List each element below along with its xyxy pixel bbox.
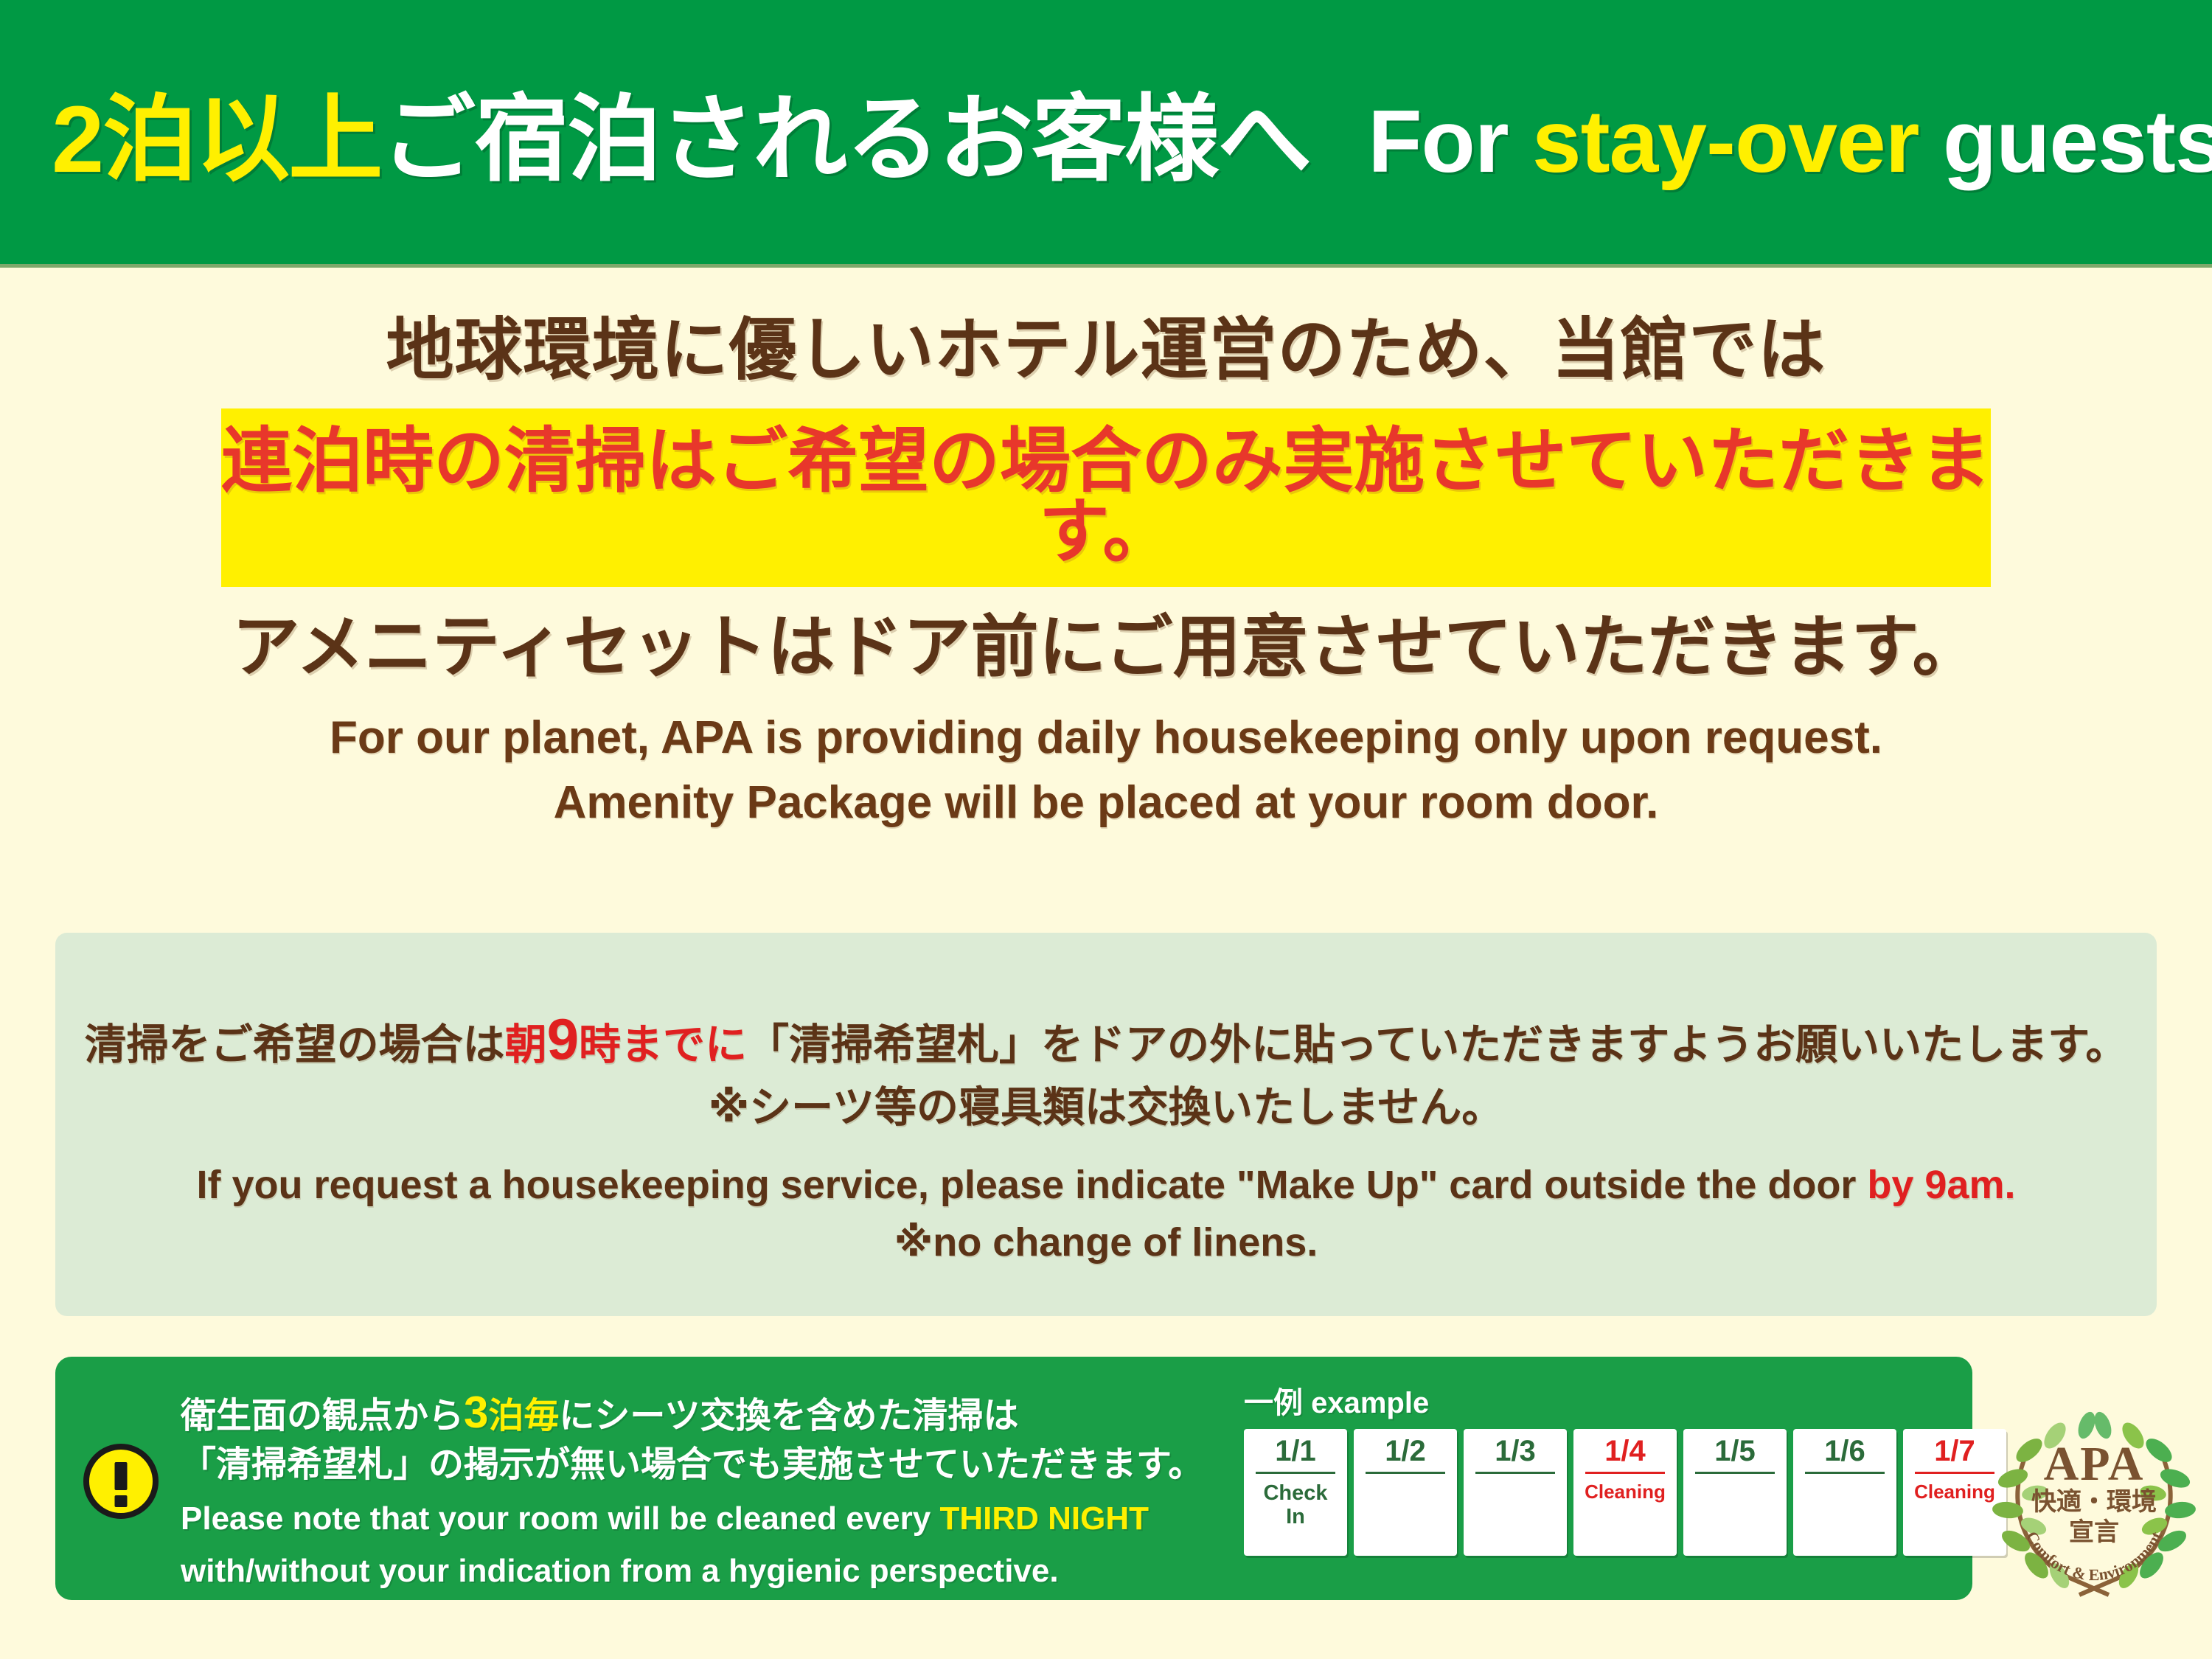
info-en-1-red-deadline: by 9am. <box>1867 1163 2015 1207</box>
main-jp-line-2: アメニティセットはドア前にご用意させていただきます。 <box>0 611 2212 685</box>
example-day-divider <box>1366 1472 1445 1474</box>
notice-jp-1-part-a: 衛生面の観点から <box>181 1397 464 1436</box>
example-day-divider <box>1915 1472 1994 1474</box>
example-day-divider <box>1805 1472 1885 1474</box>
apa-logo-svg: APA 快適・環境 宣言 Comfort & Environment <box>1983 1390 2205 1611</box>
info-jp-1-red-a: 朝 <box>505 1021 547 1068</box>
header-title-jp-rest: ご宿泊されるお客様へ <box>381 87 1310 192</box>
example-day-cell: 1/6 <box>1793 1429 1896 1556</box>
main-english-block: For our planet, APA is providing daily h… <box>0 706 2212 835</box>
info-jp-1-red-b: 時までに <box>579 1021 747 1068</box>
warning-exclamation-icon <box>83 1444 159 1519</box>
header-title-en-highlight: stay-over <box>1532 92 1919 191</box>
highlighted-policy-banner: 連泊時の清掃はご希望の場合のみ実施させていただきます。 <box>221 408 1991 587</box>
header-title-group: 2泊以上ご宿泊されるお客様へ For stay-over guests <box>0 93 2212 187</box>
example-day-note: Cleaning <box>1585 1481 1666 1503</box>
main-en-line-1: For our planet, APA is providing daily h… <box>0 706 2212 771</box>
example-day-date: 1/3 <box>1495 1435 1536 1467</box>
header-title-english: For stay-over guests <box>1368 97 2212 186</box>
example-day-date: 1/1 <box>1275 1435 1316 1467</box>
header-title-jp-highlight: 2泊以上 <box>52 87 381 192</box>
cleaning-schedule-example: 一例 example 1/1CheckIn1/21/31/4Cleaning1/… <box>1244 1379 2006 1556</box>
main-jp-line-1: 地球環境に優しいホテル運営のため、当館では <box>0 313 2212 388</box>
notice-jp-1-hl-number: 3 <box>464 1388 488 1437</box>
notice-jp-1-highlight: 3泊毎 <box>464 1397 559 1436</box>
header-title-japanese: 2泊以上ご宿泊されるお客様へ <box>52 93 1310 187</box>
example-day-date: 1/5 <box>1714 1435 1756 1467</box>
example-label: 一例 example <box>1244 1379 2006 1422</box>
header-title-en-prefix: For <box>1368 92 1532 191</box>
info-jp-1-red-time: 朝9時までに <box>505 1021 747 1068</box>
housekeeping-request-info-box: 清掃をご希望の場合は朝9時までに「清掃希望札」をドアの外に貼っていただきますよう… <box>55 933 2157 1316</box>
info-jp-1-part-a: 清掃をご希望の場合は <box>85 1021 505 1068</box>
example-day-date: 1/7 <box>1934 1435 1975 1467</box>
third-night-cleaning-notice: 衛生面の観点から3泊毎にシーツ交換を含めた清掃は 「清掃希望札」の掲示が無い場合… <box>55 1357 1972 1600</box>
example-day-cell: 1/3 <box>1464 1429 1567 1556</box>
notice-jp-line-1: 衛生面の観点から3泊毎にシーツ交換を含めた清掃は <box>181 1383 1228 1441</box>
main-message-block: 地球環境に優しいホテル運営のため、当館では 連泊時の清掃はご希望の場合のみ実施さ… <box>0 268 2212 835</box>
info-jp-1-red-hour: 9 <box>547 1006 579 1071</box>
example-day-divider <box>1695 1472 1775 1474</box>
example-day-date: 1/2 <box>1385 1435 1426 1467</box>
info-en-1-part-a: If you request a housekeeping service, p… <box>197 1163 1868 1207</box>
info-en-line-2: ※no change of linens. <box>55 1217 2157 1268</box>
highlighted-policy-text: 連泊時の清掃はご希望の場合のみ実施させていただきます。 <box>221 426 1991 568</box>
notice-text-block: 衛生面の観点から3泊毎にシーツ交換を含めた清掃は 「清掃希望札」の掲示が無い場合… <box>181 1383 1228 1593</box>
notice-en-1-part-a: Please note that your room will be clean… <box>181 1500 939 1537</box>
example-day-cell: 1/4Cleaning <box>1573 1429 1677 1556</box>
example-day-cell: 1/2 <box>1354 1429 1457 1556</box>
info-jp-line-1: 清掃をご希望の場合は朝9時までに「清掃希望札」をドアの外に貼っていただきますよう… <box>55 1004 2157 1076</box>
notice-en-line-1: Please note that your room will be clean… <box>181 1498 1228 1541</box>
main-en-line-2: Amenity Package will be placed at your r… <box>0 771 2212 835</box>
example-day-divider <box>1475 1472 1555 1474</box>
info-jp-1-part-b: 「清掃希望札」をドアの外に貼っていただきますようお願いいたします。 <box>747 1021 2127 1068</box>
example-calendar-row: 1/1CheckIn1/21/31/4Cleaning1/51/61/7Clea… <box>1244 1429 2006 1556</box>
apa-comfort-environment-logo: APA 快適・環境 宣言 Comfort & Environment <box>1983 1390 2205 1611</box>
example-day-divider <box>1256 1472 1335 1474</box>
example-day-cell: 1/1CheckIn <box>1244 1429 1347 1556</box>
example-day-date: 1/6 <box>1824 1435 1865 1467</box>
notice-en-line-2: with/without your indication from a hygi… <box>181 1550 1228 1593</box>
info-en-line-1: If you request a housekeeping service, p… <box>55 1159 2157 1211</box>
example-day-cell: 1/5 <box>1683 1429 1787 1556</box>
info-jp-line-2: ※シーツ等の寝具類は交換いたしません。 <box>55 1082 2157 1134</box>
apa-logo-brand: APA <box>2044 1437 2145 1491</box>
apa-logo-jp-line2: 宣言 <box>2069 1517 2119 1547</box>
notice-jp-1-part-b: にシーツ交換を含めた清掃は <box>559 1397 1018 1436</box>
example-day-note: CheckIn <box>1263 1481 1327 1529</box>
example-day-divider <box>1585 1472 1665 1474</box>
header-banner: 2泊以上ご宿泊されるお客様へ For stay-over guests <box>0 0 2212 268</box>
notice-en-1-highlight: THIRD NIGHT <box>939 1500 1149 1537</box>
notice-jp-1-hl-rest: 泊毎 <box>488 1397 559 1436</box>
example-day-date: 1/4 <box>1604 1435 1646 1467</box>
apa-logo-jp-line1: 快適・環境 <box>2031 1487 2157 1517</box>
header-title-en-suffix: guests <box>1919 92 2212 191</box>
notice-jp-line-2: 「清掃希望札」の掲示が無い場合でも実施させていただきます。 <box>181 1441 1228 1488</box>
